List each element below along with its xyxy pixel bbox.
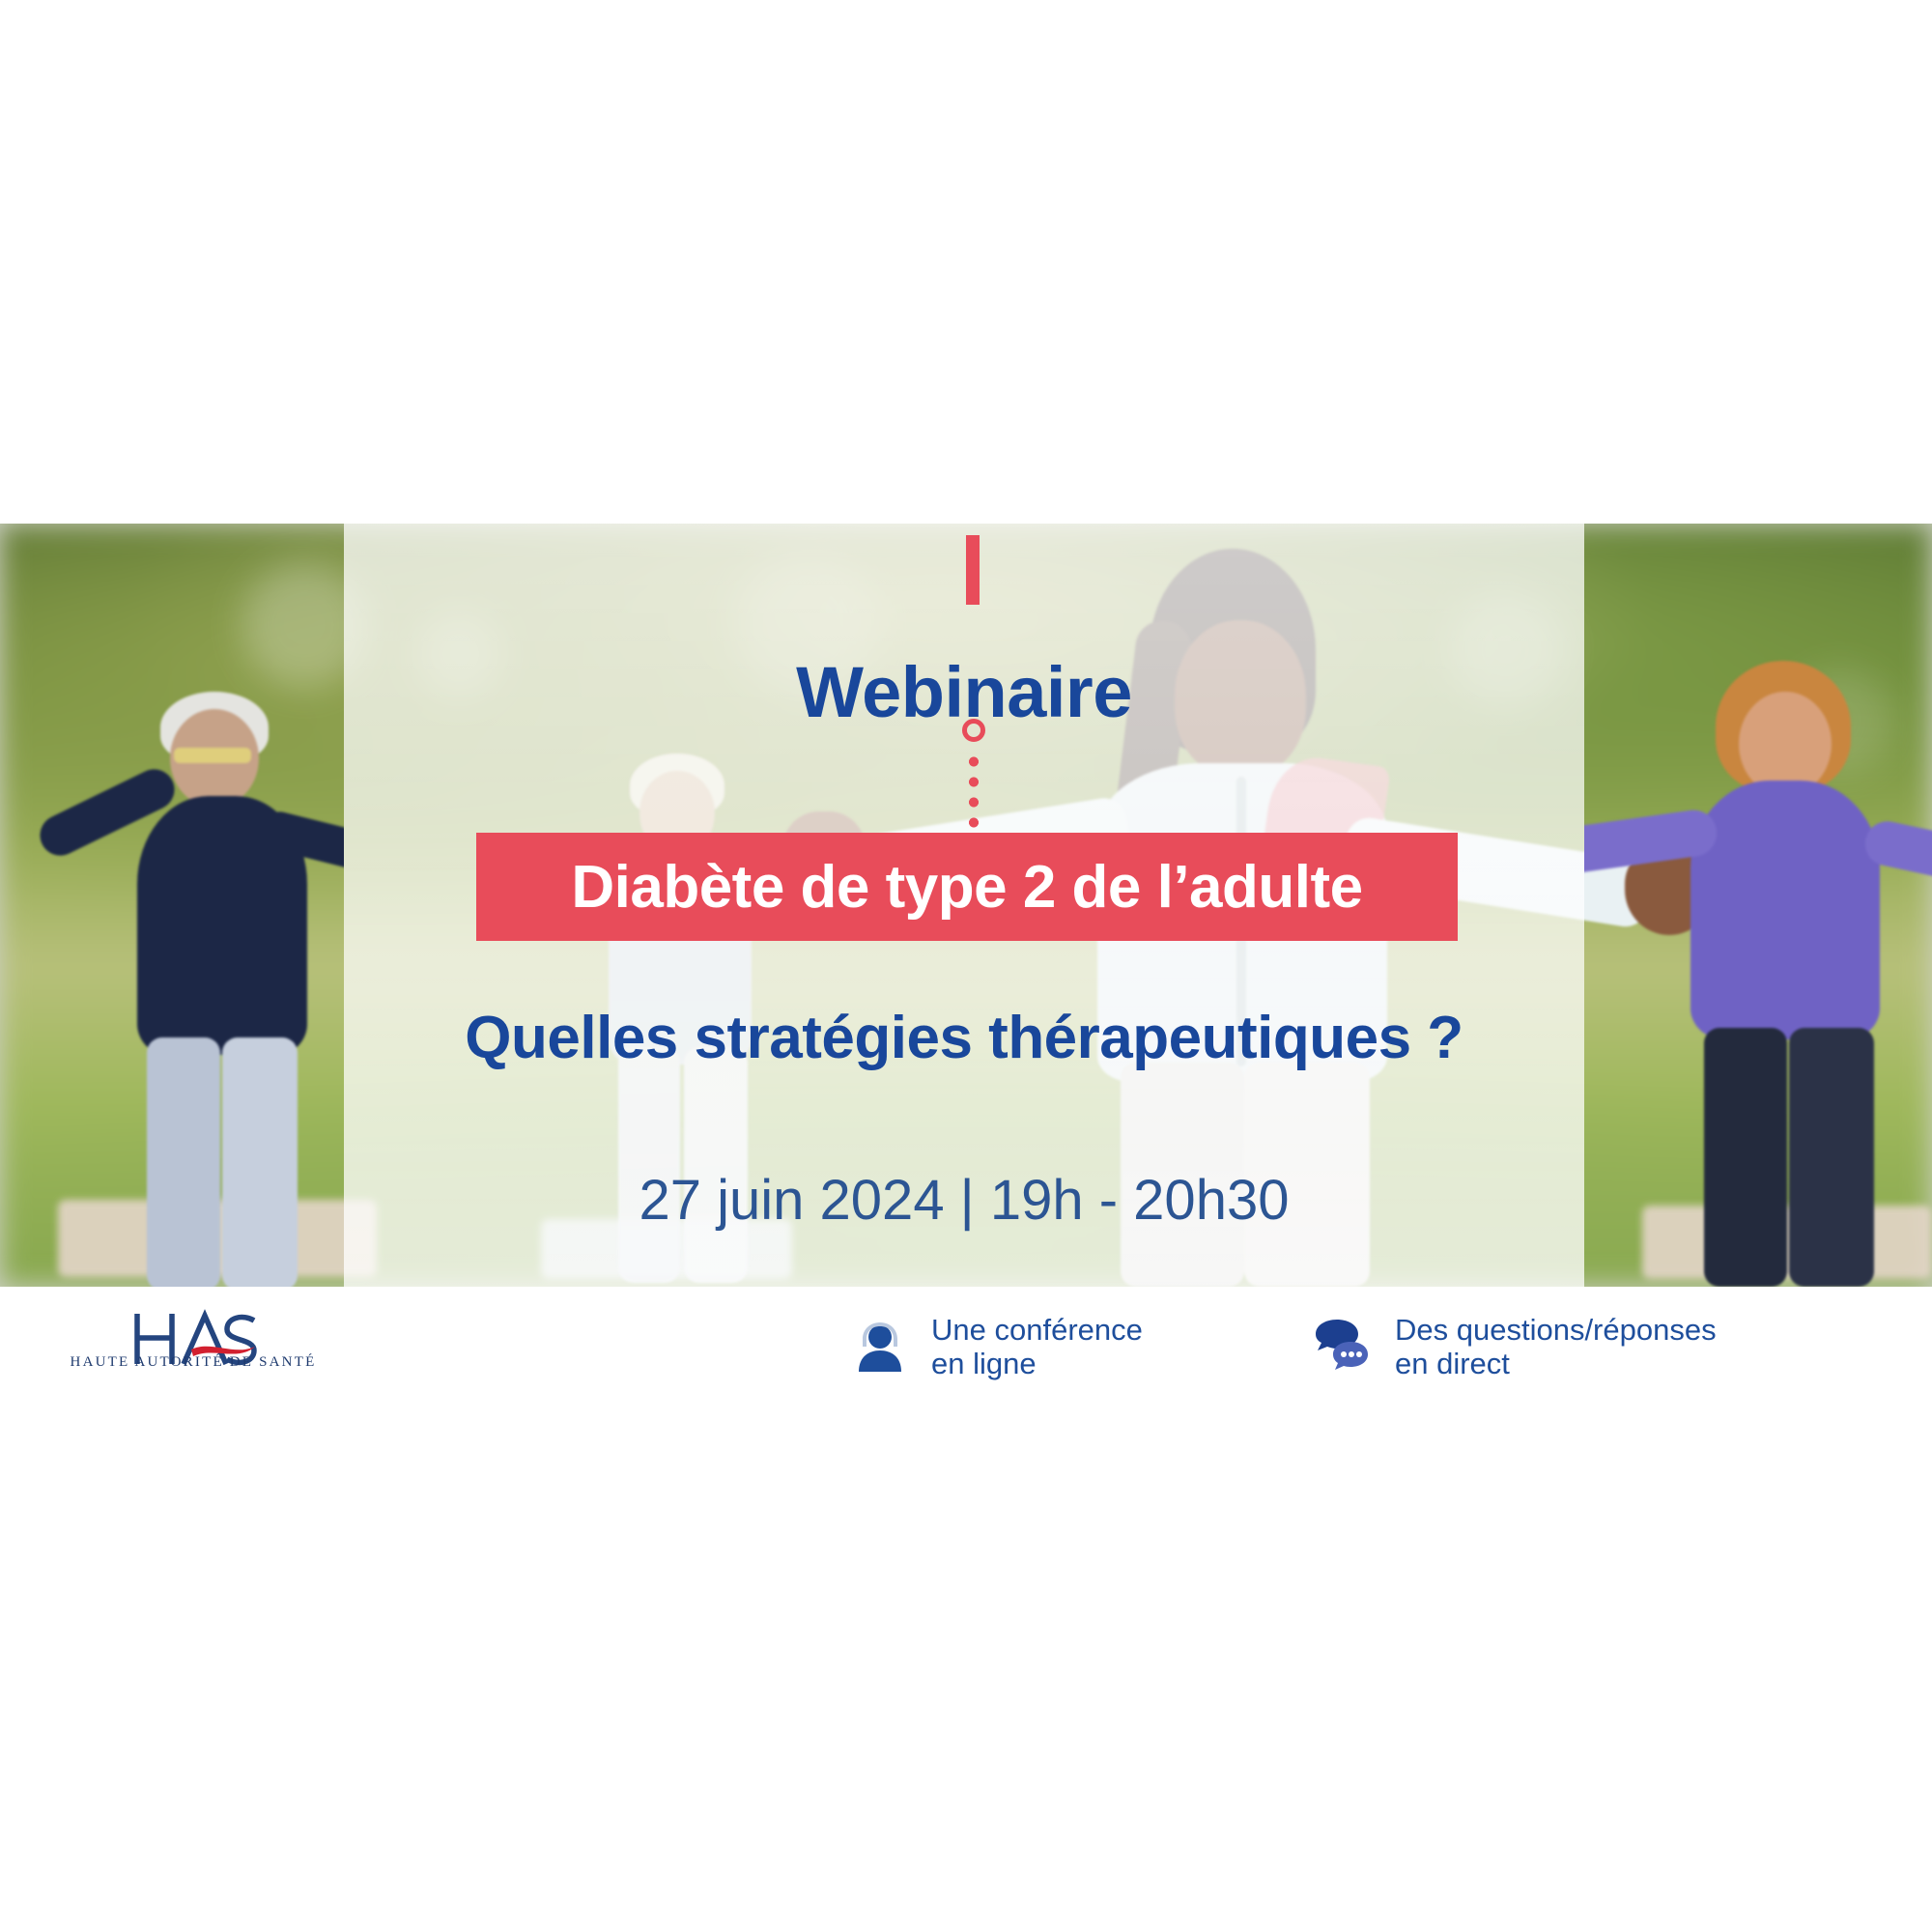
title-band: Diabète de type 2 de l’adulte	[476, 833, 1458, 941]
footer-item-conference: Une conférence en ligne	[850, 1314, 1143, 1380]
footer-label-conference: Une conférence en ligne	[931, 1314, 1143, 1380]
footer-label-line1: Des questions/réponses	[1395, 1313, 1717, 1347]
has-wordmark: HAUTE AUTORITÉ DE SANTÉ	[48, 1354, 338, 1371]
footer-label-line2: en direct	[1395, 1348, 1717, 1381]
person-icon	[850, 1318, 910, 1378]
photo-panel-left	[0, 524, 344, 1287]
footer-item-questions: Des questions/réponses en direct	[1314, 1314, 1717, 1380]
photo-panel-right	[1584, 524, 1932, 1287]
speech-bubbles-icon	[1314, 1318, 1374, 1378]
footer-label-line1: Une conférence	[931, 1313, 1143, 1347]
footer-label-line2: en ligne	[931, 1348, 1143, 1381]
has-logo: HAUTE AUTORITÉ DE SANTÉ	[48, 1308, 338, 1420]
footer-label-questions: Des questions/réponses en direct	[1395, 1314, 1717, 1380]
red-tick-icon	[966, 535, 980, 605]
banner-subtitle: Quelles stratégies thérapeutiques ?	[344, 1009, 1584, 1068]
person-figure-right	[1640, 659, 1911, 1287]
banner-datetime: 27 juin 2024 | 19h - 20h30	[344, 1173, 1584, 1229]
banner-footer: HAUTE AUTORITÉ DE SANTÉ Une conférence e…	[0, 1287, 1932, 1439]
banner-title: Diabète de type 2 de l’adulte	[571, 853, 1362, 922]
webinar-banner: Webinaire Diabète de type 2 de l’adulte …	[0, 524, 1932, 1439]
person-figure-left	[114, 678, 344, 1287]
banner-eyebrow: Webinaire	[344, 657, 1584, 728]
